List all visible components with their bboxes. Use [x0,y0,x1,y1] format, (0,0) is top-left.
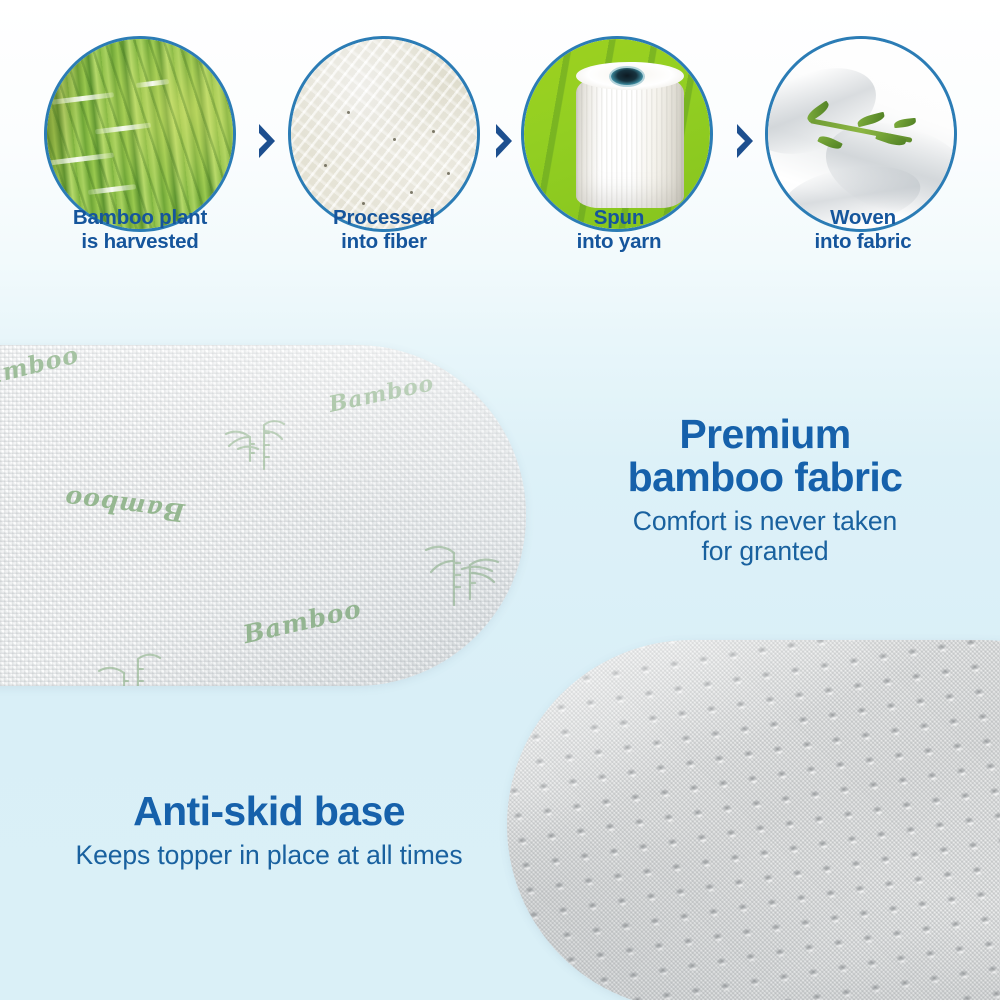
process-step-2-circle [288,36,480,232]
caption-line-1: Processed [269,206,499,230]
process-step-4-caption: Woven into fabric [748,206,978,254]
caption-line-2: into fabric [748,230,978,254]
process-step-1 [44,36,236,232]
chevron-right-icon [734,122,756,160]
process-step-1-circle [44,36,236,232]
premium-headline-line-1: Premium [553,413,977,456]
premium-subtext-line-1: Comfort is never taken [553,507,977,537]
base-shading [507,640,1000,1000]
bamboo-grove-photo [47,39,233,229]
process-step-1-caption: Bamboo plant is harvested [25,206,255,254]
process-step-2 [288,36,480,232]
process-step-3-caption: Spun into yarn [504,206,734,254]
process-step-3 [521,36,713,232]
anti-skid-dotted-base-photo [507,640,1000,1000]
caption-line-1: Bamboo plant [25,206,255,230]
infographic-canvas: Bamboo plant is harvested Processed into… [0,0,1000,1000]
caption-line-2: into yarn [504,230,734,254]
process-step-4 [765,36,957,232]
premium-subtext-line-2: for granted [553,537,977,567]
bamboo-process-strip: Bamboo plant is harvested Processed into… [0,0,1000,320]
caption-line-1: Spun [504,206,734,230]
yarn-cone-photo [524,39,710,229]
process-step-4-circle [765,36,957,232]
anti-skid-base-feature: Anti-skid base Keeps topper in place at … [34,790,504,870]
process-step-2-caption: Processed into fiber [269,206,499,254]
chevron-right-icon [256,122,278,160]
caption-line-1: Woven [748,206,978,230]
raw-fiber-photo [291,39,477,229]
woven-fabric-photo [768,39,954,229]
process-step-3-circle [521,36,713,232]
premium-subtext: Comfort is never taken for granted [553,507,977,566]
chevron-right-icon [493,122,515,160]
fabric-shading [0,345,526,686]
premium-headline: Premium bamboo fabric [553,413,977,498]
bamboo-fabric-topper-photo: Bamboo Bamboo Bamboo Bamboo [0,345,526,686]
premium-bamboo-fabric-feature: Premium bamboo fabric Comfort is never t… [553,413,977,567]
antiskid-subtext: Keeps topper in place at all times [34,841,504,871]
caption-line-2: into fiber [269,230,499,254]
caption-line-2: is harvested [25,230,255,254]
antiskid-headline: Anti-skid base [34,790,504,833]
premium-headline-line-2: bamboo fabric [553,456,977,499]
